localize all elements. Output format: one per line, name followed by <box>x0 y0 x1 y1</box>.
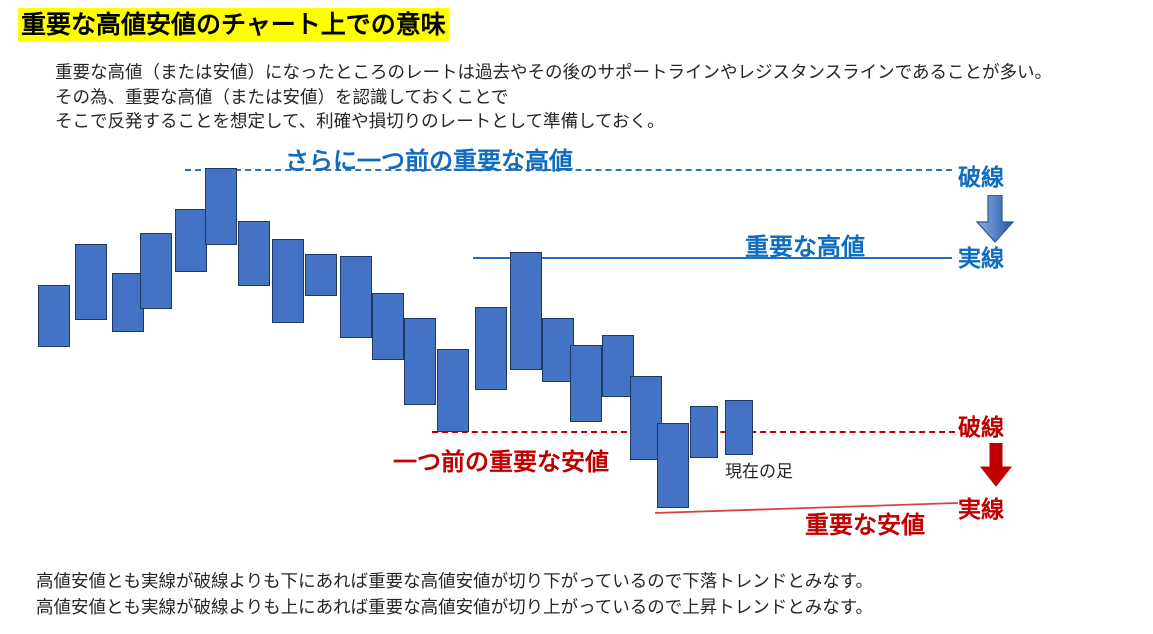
candle-1 <box>38 285 70 347</box>
candle-14 <box>475 307 507 390</box>
level-line-important-high <box>473 257 952 259</box>
slide-canvas: 重要な高値安値のチャート上での意味 重要な高値（または安値）になったところのレー… <box>0 0 1153 634</box>
legend-solid-red-label: 実線 <box>958 490 1004 524</box>
down-arrow-red-icon <box>978 443 1014 487</box>
candle-8 <box>272 239 304 323</box>
candle-12 <box>404 318 436 405</box>
candlestick-chart: さらに一つ前の重要な高値 重要な高値 一つ前の重要な安値 重要な安値 現在の足 … <box>0 0 1153 634</box>
legend-dashed-blue-label: 破線 <box>958 158 1004 192</box>
annotation-prev-prev-high: さらに一つ前の重要な高値 <box>285 141 573 176</box>
candle-20 <box>657 423 689 508</box>
annotation-current-candle: 現在の足 <box>725 457 793 482</box>
candle-13 <box>437 349 469 432</box>
candle-15 <box>510 252 542 370</box>
annotation-prev-low: 一つ前の重要な安値 <box>393 442 609 477</box>
footer-line-1: 高値安値とも実線が破線よりも下にあれば重要な高値安値が切り下がっているので下落ト… <box>36 568 873 594</box>
candle-17 <box>570 345 602 422</box>
candle-7 <box>238 221 270 286</box>
legend-dashed-red-label: 破線 <box>958 408 1004 442</box>
footer-line-2: 高値安値とも実線が破線よりも上にあれば重要な高値安値が切り上がっているので上昇ト… <box>36 594 873 620</box>
candle-5 <box>175 209 207 272</box>
footer-notes: 高値安値とも実線が破線よりも下にあれば重要な高値安値が切り下がっているので下落ト… <box>36 568 873 620</box>
annotation-important-high: 重要な高値 <box>745 227 865 262</box>
annotation-important-low: 重要な安値 <box>805 505 925 540</box>
candle-10 <box>340 256 372 338</box>
legend-solid-blue-label: 実線 <box>958 239 1004 273</box>
candle-6 <box>205 168 237 245</box>
candle-4 <box>140 233 172 309</box>
candle-2 <box>75 244 107 320</box>
down-arrow-blue-icon <box>975 195 1015 243</box>
candle-9 <box>305 254 337 296</box>
candle-11 <box>372 293 404 360</box>
candle-22-current <box>725 400 753 455</box>
candle-21 <box>690 406 718 458</box>
